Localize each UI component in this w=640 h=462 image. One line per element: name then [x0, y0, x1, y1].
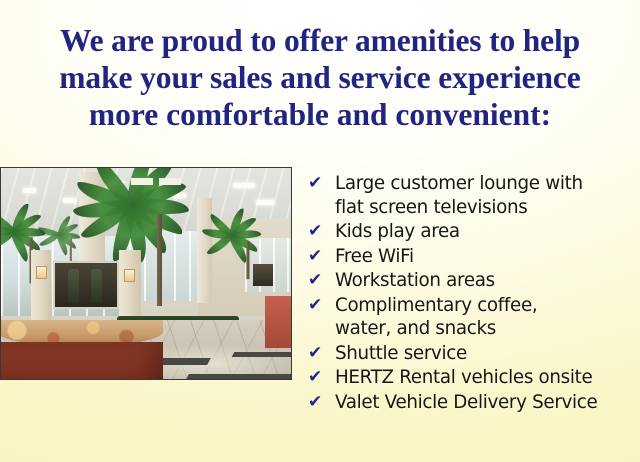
- photo-background-object: [253, 264, 273, 286]
- lobby-photo: [0, 167, 292, 380]
- page-title-line-2: make your sales and service experience: [4, 59, 636, 96]
- lobby-photo-image: [1, 168, 291, 379]
- list-item-label: Complimentary coffee, water, and snacks: [335, 294, 640, 341]
- list-item-line: Large customer lounge with: [335, 172, 640, 196]
- photo-pilaster: [31, 250, 51, 326]
- list-item-label: Shuttle service: [335, 342, 640, 366]
- check-icon: ✔: [308, 172, 335, 196]
- list-item-label: Valet Vehicle Delivery Service: [335, 391, 640, 415]
- photo-wall-sconce: [36, 266, 47, 279]
- list-item: ✔ Valet Vehicle Delivery Service: [308, 391, 640, 415]
- list-item: ✔ Free WiFi: [308, 245, 640, 269]
- list-item: ✔ Large customer lounge with flat screen…: [308, 172, 640, 219]
- list-item: ✔ Workstation areas: [308, 269, 640, 293]
- check-icon: ✔: [308, 342, 335, 366]
- slide-root: We are proud to offer amenities to help …: [0, 0, 640, 462]
- check-icon: ✔: [308, 366, 335, 390]
- photo-sculpture: [68, 269, 79, 303]
- check-icon: ✔: [308, 391, 335, 415]
- list-item-line: Complimentary coffee,: [335, 294, 640, 318]
- list-item: ✔ HERTZ Rental vehicles onsite: [308, 366, 640, 390]
- list-item: ✔ Kids play area: [308, 220, 640, 244]
- photo-wall-sconce: [124, 269, 135, 282]
- photo-planter-panel: [131, 178, 153, 185]
- photo-reception-desk-base: [1, 342, 163, 379]
- page-title-line-3: more comfortable and convenient:: [4, 96, 636, 133]
- photo-sculpture: [91, 269, 102, 303]
- check-icon: ✔: [308, 245, 335, 269]
- list-item-label: Free WiFi: [335, 245, 640, 269]
- list-item: ✔ Complimentary coffee, water, and snack…: [308, 294, 640, 341]
- amenities-list: ✔ Large customer lounge with flat screen…: [308, 172, 640, 415]
- photo-display-case: [53, 261, 119, 309]
- photo-planter-panel: [159, 178, 181, 185]
- list-item-label: Kids play area: [335, 220, 640, 244]
- page-title-line-1: We are proud to offer amenities to help: [4, 22, 636, 59]
- list-item: ✔ Shuttle service: [308, 342, 640, 366]
- list-item-label: Workstation areas: [335, 269, 640, 293]
- check-icon: ✔: [308, 220, 335, 244]
- photo-ceiling-light: [233, 183, 255, 188]
- photo-ceiling-light: [256, 200, 274, 205]
- photo-ceiling-light: [23, 188, 36, 193]
- list-item-line: water, and snacks: [335, 317, 640, 341]
- photo-side-counter: [265, 296, 291, 348]
- list-item-line: flat screen televisions: [335, 196, 640, 220]
- check-icon: ✔: [308, 269, 335, 293]
- list-item-label: HERTZ Rental vehicles onsite: [335, 366, 640, 390]
- photo-pilaster: [119, 250, 141, 326]
- page-title: We are proud to offer amenities to help …: [4, 22, 636, 133]
- photo-ceiling-light: [63, 198, 76, 203]
- list-item-label: Large customer lounge with flat screen t…: [335, 172, 640, 219]
- photo-floor-accent-tile: [185, 374, 291, 379]
- check-icon: ✔: [308, 294, 335, 318]
- photo-floor-accent-tile: [232, 352, 291, 357]
